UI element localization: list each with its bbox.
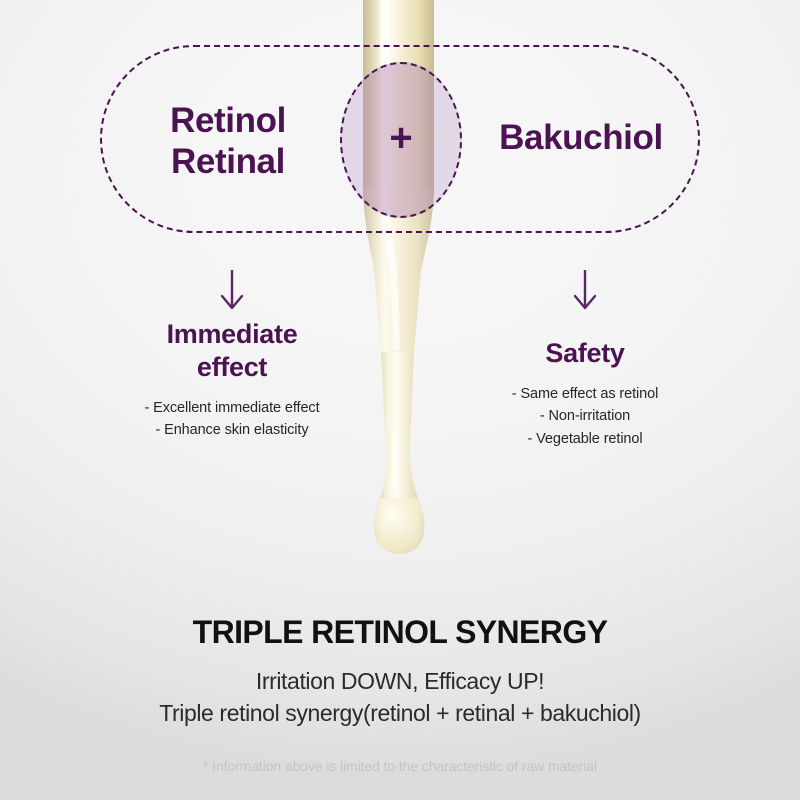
infographic-page: Retinol Retinal Bakuchiol + Immediate ef… (0, 0, 800, 800)
arrow-down-icon-right (560, 268, 610, 312)
benefit-title-line1: Safety (465, 337, 705, 370)
list-item: - Non-irritation (465, 405, 705, 427)
list-item: - Same effect as retinol (465, 383, 705, 405)
ingredient-left-line2: Retinal (118, 141, 338, 182)
benefit-column-safety: Safety - Same effect as retinol - Non-ir… (465, 337, 705, 450)
list-item: - Enhance skin elasticity (112, 419, 352, 441)
benefit-title: Safety (465, 337, 705, 370)
benefit-column-immediate-effect: Immediate effect - Excellent immediate e… (112, 318, 352, 442)
disclaimer-footnote: * Information above is limited to the ch… (0, 758, 800, 774)
ingredient-label-bakuchiol: Bakuchiol (462, 118, 700, 158)
benefit-title-line2: effect (112, 351, 352, 384)
list-item: - Vegetable retinol (465, 428, 705, 450)
benefit-list: - Same effect as retinol - Non-irritatio… (465, 383, 705, 450)
ingredient-label-retinol: Retinol Retinal (118, 100, 338, 183)
page-title: TRIPLE RETINOL SYNERGY (0, 614, 800, 651)
arrow-down-icon-left (207, 268, 257, 312)
ingredient-left-line1: Retinol (118, 100, 338, 141)
benefit-title-line1: Immediate (112, 318, 352, 351)
list-item: - Excellent immediate effect (112, 397, 352, 419)
benefit-list: - Excellent immediate effect - Enhance s… (112, 397, 352, 442)
summary-line-2: Triple retinol synergy(retinol + retinal… (0, 700, 800, 727)
benefit-title: Immediate effect (112, 318, 352, 384)
plus-icon: + (361, 118, 441, 158)
summary-line-1: Irritation DOWN, Efficacy UP! (0, 668, 800, 695)
